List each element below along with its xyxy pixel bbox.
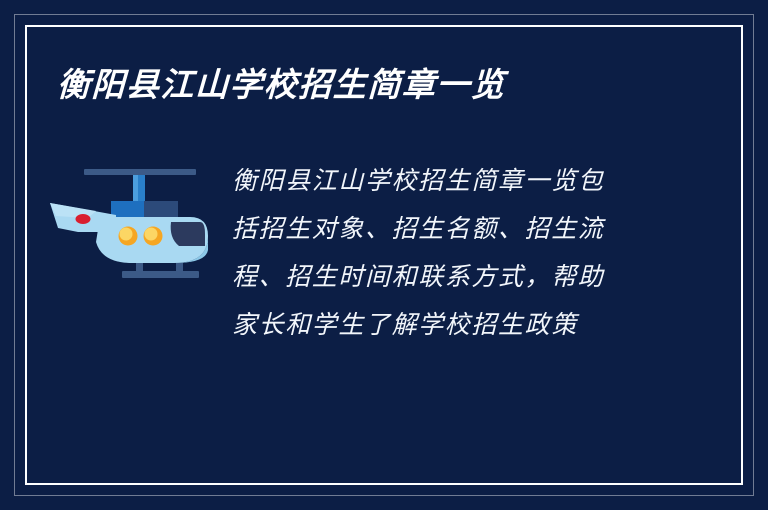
- helicopter-engine-box: [111, 201, 144, 217]
- body-line: 家长和学生了解学校招生政策: [232, 302, 652, 350]
- helicopter-landing-skid: [122, 271, 199, 278]
- helicopter-rotor-mast-highlight: [133, 175, 138, 201]
- body-line: 程、招生时间和联系方式，帮助: [232, 254, 652, 302]
- helicopter-gear-strut-right: [176, 263, 183, 272]
- helicopter-porthole-right-inner: [145, 228, 158, 241]
- body-paragraph: 衡阳县江山学校招生简章一览包 括招生对象、招生名额、招生流 程、招生时间和联系方…: [232, 158, 652, 350]
- helicopter-icon: [38, 160, 223, 290]
- poster-canvas: 衡阳县江山学校招生简章一览: [0, 0, 768, 510]
- helicopter-engine-box-dark: [144, 201, 178, 217]
- helicopter-rotor-blade: [84, 169, 196, 175]
- helicopter-porthole-left-inner: [120, 228, 133, 241]
- helicopter-tail-fin: [50, 203, 96, 218]
- helicopter-gear-strut-left: [136, 263, 143, 272]
- helicopter-cockpit-window: [171, 222, 205, 246]
- body-line: 衡阳县江山学校招生简章一览包: [232, 158, 652, 206]
- body-line: 括招生对象、招生名额、招生流: [232, 206, 652, 254]
- helicopter-tail-light: [76, 214, 91, 224]
- page-title: 衡阳县江山学校招生简章一览: [56, 66, 697, 105]
